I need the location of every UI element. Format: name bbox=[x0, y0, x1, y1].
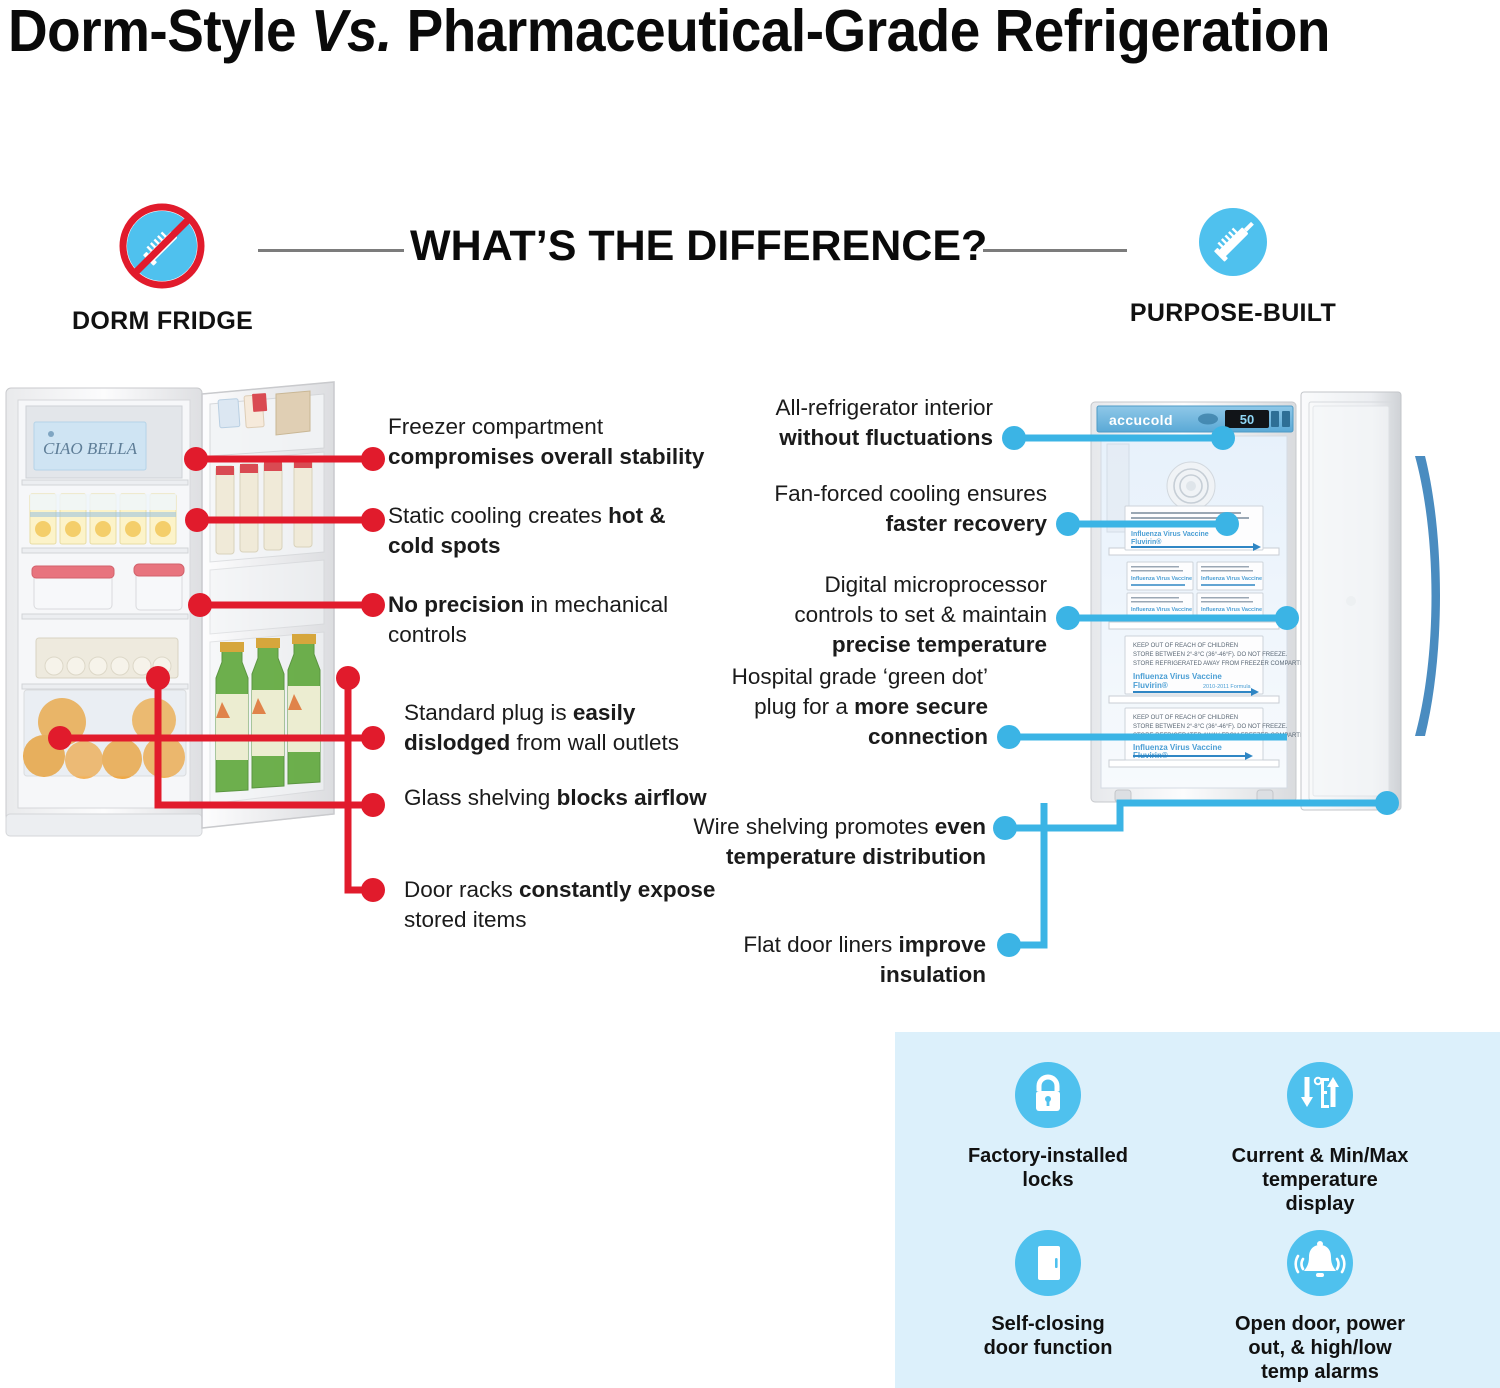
callout-no-precision: No precision in mechanical controls bbox=[388, 590, 708, 650]
dorm-fridge-header-label: DORM FRIDGE bbox=[72, 307, 252, 336]
purpose-built-header: PURPOSE-BUILT bbox=[1122, 200, 1344, 328]
svg-text:accucold: accucold bbox=[1109, 412, 1173, 428]
features-panel: Factory-installed locks bbox=[895, 1032, 1500, 1388]
feature-factory-installed-locks: Factory-installed locks bbox=[923, 1060, 1173, 1192]
purpose-built-header-label: PURPOSE-BUILT bbox=[1122, 299, 1344, 328]
callout-static-cooling: Static cooling creates hot & cold spots bbox=[388, 501, 708, 561]
callout-freezer-compartment: Freezer compartment compromises overall … bbox=[388, 412, 728, 472]
callout-text-plain2: from wall outlets bbox=[510, 730, 679, 755]
callout-text-bold: faster recovery bbox=[886, 511, 1047, 536]
callout-text-bold: precise temperature bbox=[832, 632, 1047, 657]
feature-self-closing-door: Self-closing door function bbox=[923, 1228, 1173, 1360]
callout-standard-plug: Standard plug is easily dislodged from w… bbox=[404, 698, 734, 758]
feature-minmax-temp-display: Current & Min/Max temperature display bbox=[1195, 1060, 1445, 1216]
lock-icon bbox=[1013, 1060, 1083, 1135]
whats-the-difference-title: WHAT’S THE DIFFERENCE? bbox=[410, 222, 980, 271]
callout-text-plain: All-refrigerator interior bbox=[775, 395, 993, 420]
header-rule-right bbox=[983, 249, 1127, 252]
callout-text-plain: Flat door liners bbox=[743, 932, 898, 957]
callout-text-plain: Fan-forced cooling ensures bbox=[774, 481, 1047, 506]
callout-text-plain: Digital microprocessor controls to set &… bbox=[794, 572, 1047, 627]
callout-text-plain: Static cooling creates bbox=[388, 503, 608, 528]
syringe-icon bbox=[1191, 200, 1275, 289]
title-post: Pharmaceutical-Grade Refrigeration bbox=[392, 0, 1330, 64]
callout-text-bold: more secure connection bbox=[854, 694, 988, 749]
svg-text:STORE BETWEEN 2°-8°C (36°-46°F: STORE BETWEEN 2°-8°C (36°-46°F). DO NOT … bbox=[1133, 652, 1288, 658]
feature-label: Factory-installed locks bbox=[923, 1144, 1173, 1192]
feature-label: Self-closing door function bbox=[923, 1312, 1173, 1360]
svg-text:Fluvirin®: Fluvirin® bbox=[1131, 538, 1162, 546]
svg-text:Influenza Virus Vaccine: Influenza Virus Vaccine bbox=[1201, 576, 1262, 582]
feature-temp-alarms: Open door, power out, & high/low temp al… bbox=[1195, 1228, 1445, 1384]
svg-text:Influenza Virus Vaccine: Influenza Virus Vaccine bbox=[1201, 607, 1262, 613]
page-title: Dorm-Style Vs. Pharmaceutical-Grade Refr… bbox=[8, 0, 1388, 64]
callout-text-bold: constantly expose bbox=[519, 877, 715, 902]
svg-text:STORE REFRIGERATED AWAY FROM F: STORE REFRIGERATED AWAY FROM FREEZER COM… bbox=[1133, 733, 1317, 739]
title-italic: Vs. bbox=[311, 0, 392, 64]
feature-label: Open door, power out, & high/low temp al… bbox=[1195, 1312, 1445, 1384]
dorm-fridge-header: DORM FRIDGE bbox=[72, 200, 252, 336]
title-pre: Dorm-Style bbox=[8, 0, 311, 64]
callout-glass-shelving: Glass shelving blocks airflow bbox=[404, 783, 744, 813]
callout-text-bold: No precision bbox=[388, 592, 524, 617]
svg-text:Influenza Virus Vaccine: Influenza Virus Vaccine bbox=[1131, 576, 1192, 582]
thermometer-icon bbox=[1285, 1060, 1355, 1135]
callout-text-plain: Glass shelving bbox=[404, 785, 557, 810]
svg-text:Influenza Virus Vaccine: Influenza Virus Vaccine bbox=[1131, 607, 1192, 613]
callout-text-plain: Wire shelving promotes bbox=[693, 814, 934, 839]
svg-text:50: 50 bbox=[1240, 412, 1254, 427]
callout-text-plain: Freezer compartment bbox=[388, 414, 603, 439]
dorm-fridge-photo: CIAO BELLA bbox=[4, 374, 356, 844]
feature-label: Current & Min/Max temperature display bbox=[1195, 1144, 1445, 1216]
bell-icon bbox=[1285, 1228, 1355, 1303]
svg-text:Influenza Virus Vaccine: Influenza Virus Vaccine bbox=[1133, 672, 1222, 681]
callout-text-bold: compromises overall stability bbox=[388, 444, 704, 469]
pharmaceutical-fridge-photo: accucold 50 Inf bbox=[1085, 386, 1485, 831]
callout-digital-microprocessor: Digital microprocessor controls to set &… bbox=[740, 570, 1047, 660]
svg-text:STORE REFRIGERATED AWAY FROM F: STORE REFRIGERATED AWAY FROM FREEZER COM… bbox=[1133, 661, 1317, 667]
svg-text:STORE BETWEEN 2°-8°C (36°-46°F: STORE BETWEEN 2°-8°C (36°-46°F). DO NOT … bbox=[1133, 724, 1288, 730]
svg-text:Influenza Virus Vaccine: Influenza Virus Vaccine bbox=[1131, 531, 1209, 538]
callout-text-plain: Standard plug is bbox=[404, 700, 573, 725]
callout-text-bold: blocks airflow bbox=[557, 785, 707, 810]
callout-door-racks: Door racks constantly expose stored item… bbox=[404, 875, 744, 935]
door-icon bbox=[1013, 1228, 1083, 1303]
callout-text-plain2: stored items bbox=[404, 907, 527, 932]
svg-text:KEEP OUT OF REACH OF CHILDREN: KEEP OUT OF REACH OF CHILDREN bbox=[1133, 715, 1238, 721]
callout-wire-shelving: Wire shelving promotes even temperature … bbox=[690, 812, 986, 872]
callout-fan-forced-cooling: Fan-forced cooling ensures faster recove… bbox=[740, 479, 1047, 539]
infographic-page: Dorm-Style Vs. Pharmaceutical-Grade Refr… bbox=[0, 0, 1500, 1388]
svg-text:CIAO BELLA: CIAO BELLA bbox=[43, 439, 138, 458]
callout-all-refrigerator: All-refrigerator interior without fluctu… bbox=[700, 393, 993, 453]
svg-text:KEEP OUT OF REACH OF CHILDREN: KEEP OUT OF REACH OF CHILDREN bbox=[1133, 643, 1238, 649]
svg-text:Fluvirin®: Fluvirin® bbox=[1133, 681, 1168, 690]
callout-text-bold: without fluctuations bbox=[779, 425, 993, 450]
callout-flat-door-liners: Flat door liners improve insulation bbox=[690, 930, 986, 990]
no-syringe-icon bbox=[116, 200, 208, 297]
callout-green-dot-plug: Hospital grade ‘green dot’ plug for a mo… bbox=[700, 662, 988, 752]
header-rule-left bbox=[258, 249, 404, 252]
svg-text:2010-2011 Formula: 2010-2011 Formula bbox=[1203, 684, 1252, 690]
callout-text-plain: Door racks bbox=[404, 877, 519, 902]
